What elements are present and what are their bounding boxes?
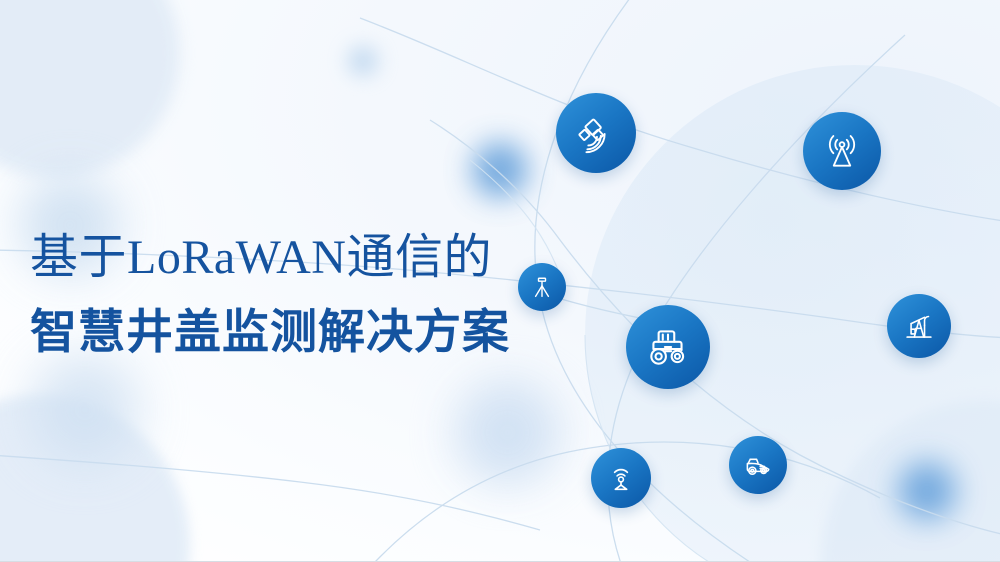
node-tractor[interactable] — [626, 305, 710, 389]
decor-dot-lower-right — [898, 462, 956, 520]
decor-dot-upper-center — [472, 142, 528, 198]
node-satellite[interactable] — [556, 93, 636, 173]
radio-tower-icon — [820, 129, 864, 173]
node-oil-pumpjack[interactable] — [887, 294, 951, 358]
title-block: 基于LoRaWAN通信的 智慧井盖监测解决方案 — [30, 228, 570, 362]
slide-canvas: 基于LoRaWAN通信的 智慧井盖监测解决方案 — [0, 0, 1000, 562]
node-harvester[interactable] — [729, 436, 787, 494]
decor-dot-top — [348, 46, 378, 76]
harvester-icon — [741, 448, 775, 482]
decor-glow-center — [455, 380, 560, 485]
title-line-primary: 基于LoRaWAN通信的 — [30, 228, 570, 288]
satellite-dish-icon — [573, 110, 619, 156]
oil-pumpjack-icon — [900, 307, 938, 345]
decor-blob-bottom-left — [0, 395, 190, 562]
tractor-icon — [643, 322, 693, 372]
node-wireless-sensor[interactable] — [591, 448, 651, 508]
decor-blob-bottom-right — [820, 400, 1000, 562]
title-line-secondary: 智慧井盖监测解决方案 — [30, 304, 570, 362]
decor-glow-left-lower — [30, 355, 140, 465]
node-radio-tower[interactable] — [803, 112, 881, 190]
decor-blob-top-left — [0, 0, 180, 178]
wireless-sensor-icon — [604, 461, 638, 495]
